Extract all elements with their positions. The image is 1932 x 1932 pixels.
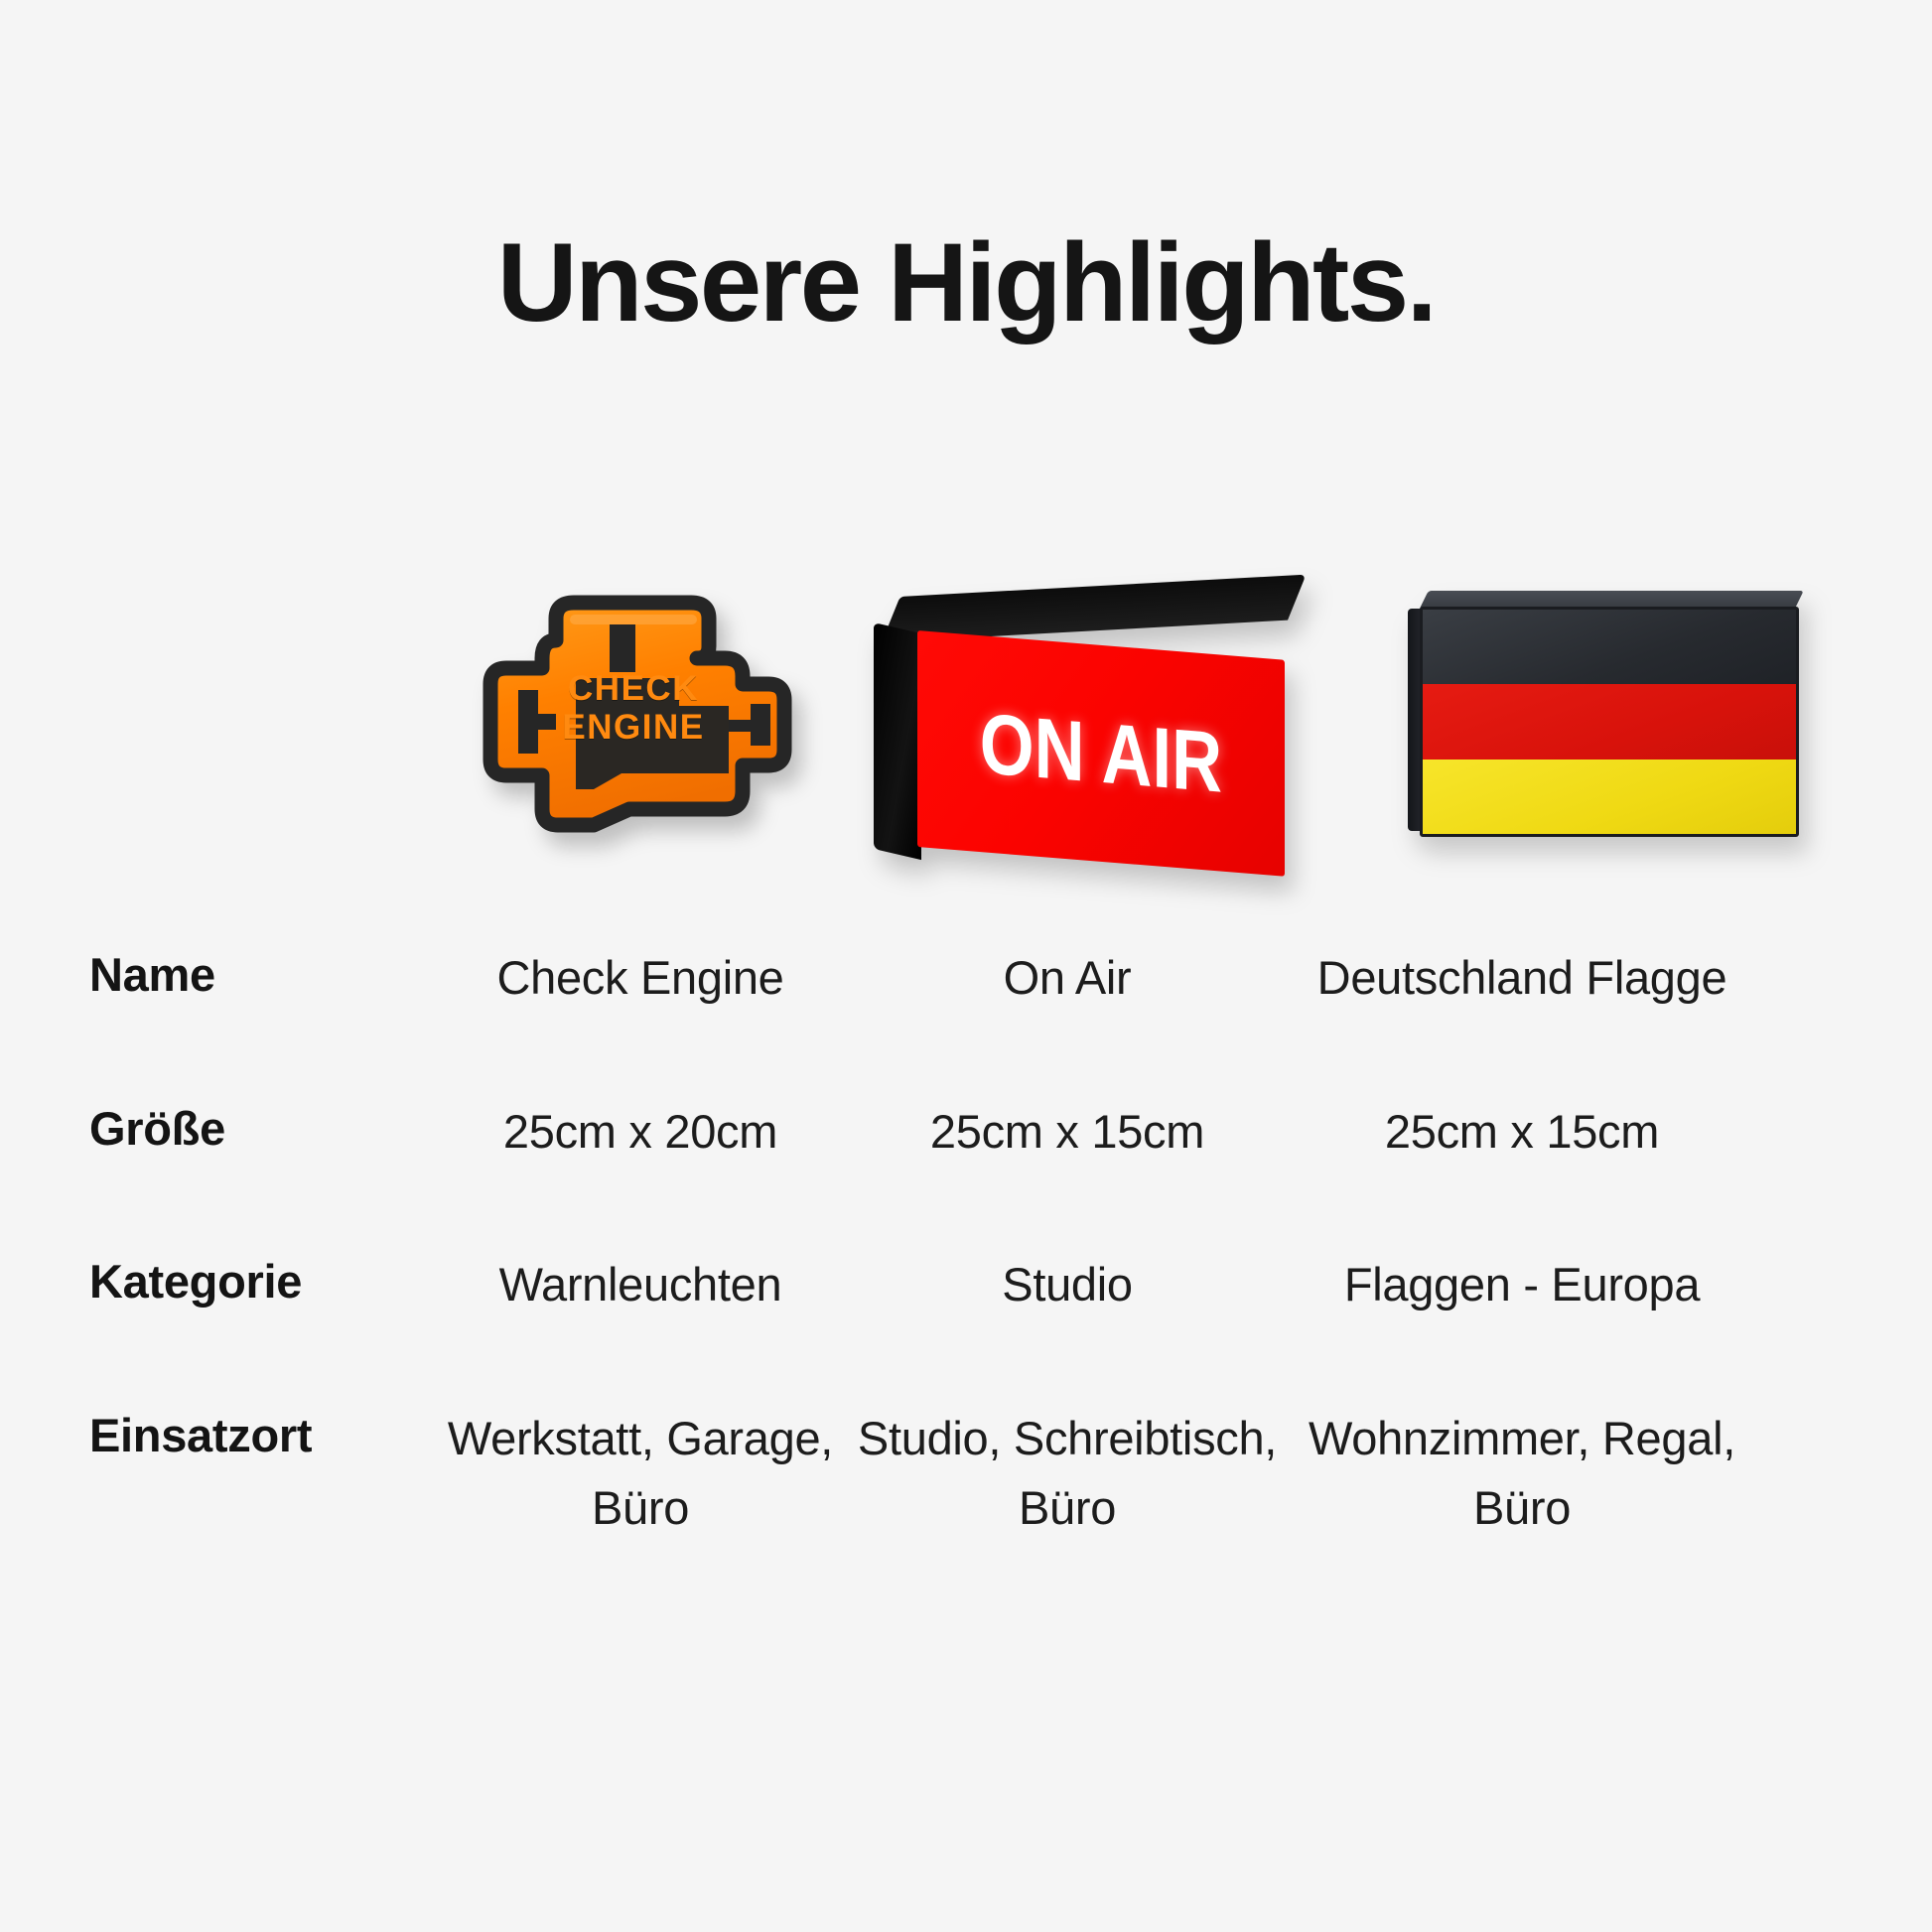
row-label-kategorie: Kategorie [0, 1250, 427, 1312]
on-air-artwork-text: ON AIR [980, 701, 1222, 806]
cell-einsatzort-on-air: Studio, Schreibtisch, Büro [854, 1404, 1281, 1544]
cell-kategorie-check-engine: Warnleuchten [427, 1250, 854, 1320]
flag-stripe-black [1423, 610, 1796, 684]
cell-name-on-air: On Air [854, 943, 1281, 1014]
product-image-check-engine[interactable]: CHECK ENGINE [328, 541, 854, 869]
flag-stripe-yellow [1423, 759, 1796, 834]
row-label-groesse: Größe [0, 1097, 427, 1160]
highlights-page: Unsere Highlights. [0, 0, 1932, 1932]
cell-groesse-germany-flag: 25cm x 15cm [1281, 1097, 1793, 1168]
on-air-lightbox-icon: ON AIR [864, 571, 1301, 859]
product-image-row: CHECK ENGINE ON AIR [328, 541, 1886, 869]
row-label-name: Name [0, 943, 427, 1006]
on-air-box-side-face [874, 622, 921, 860]
cell-kategorie-on-air: Studio [854, 1250, 1281, 1320]
product-image-on-air[interactable]: ON AIR [854, 541, 1370, 869]
cell-kategorie-germany-flag: Flaggen - Europa [1281, 1250, 1793, 1320]
table-row-kategorie: Kategorie Warnleuchten Studio Flaggen - … [0, 1250, 1932, 1320]
product-image-germany-flag[interactable] [1370, 541, 1886, 869]
cell-name-check-engine: Check Engine [427, 943, 854, 1014]
table-row-einsatzort: Einsatzort Werkstatt, Garage, Büro Studi… [0, 1404, 1932, 1544]
table-row-groesse: Größe 25cm x 20cm 25cm x 15cm 25cm x 15c… [0, 1097, 1932, 1168]
on-air-box-front-face: ON AIR [917, 630, 1285, 877]
cell-name-germany-flag: Deutschland Flagge [1281, 943, 1793, 1014]
cell-groesse-on-air: 25cm x 15cm [854, 1097, 1281, 1168]
cell-groesse-check-engine: 25cm x 20cm [427, 1097, 854, 1168]
spec-comparison-table: Name Check Engine On Air Deutschland Fla… [0, 943, 1932, 1544]
table-row-name: Name Check Engine On Air Deutschland Fla… [0, 943, 1932, 1014]
cell-einsatzort-check-engine: Werkstatt, Garage, Büro [427, 1404, 854, 1544]
page-title: Unsere Highlights. [0, 221, 1932, 344]
flag-box-front-face [1420, 607, 1799, 837]
germany-flag-lightbox-icon [1398, 575, 1815, 853]
check-engine-lamp-icon: CHECK ENGINE [435, 563, 832, 853]
cell-einsatzort-germany-flag: Wohnzimmer, Regal, Büro [1281, 1404, 1793, 1544]
row-label-einsatzort: Einsatzort [0, 1404, 427, 1466]
flag-stripe-red [1423, 684, 1796, 759]
